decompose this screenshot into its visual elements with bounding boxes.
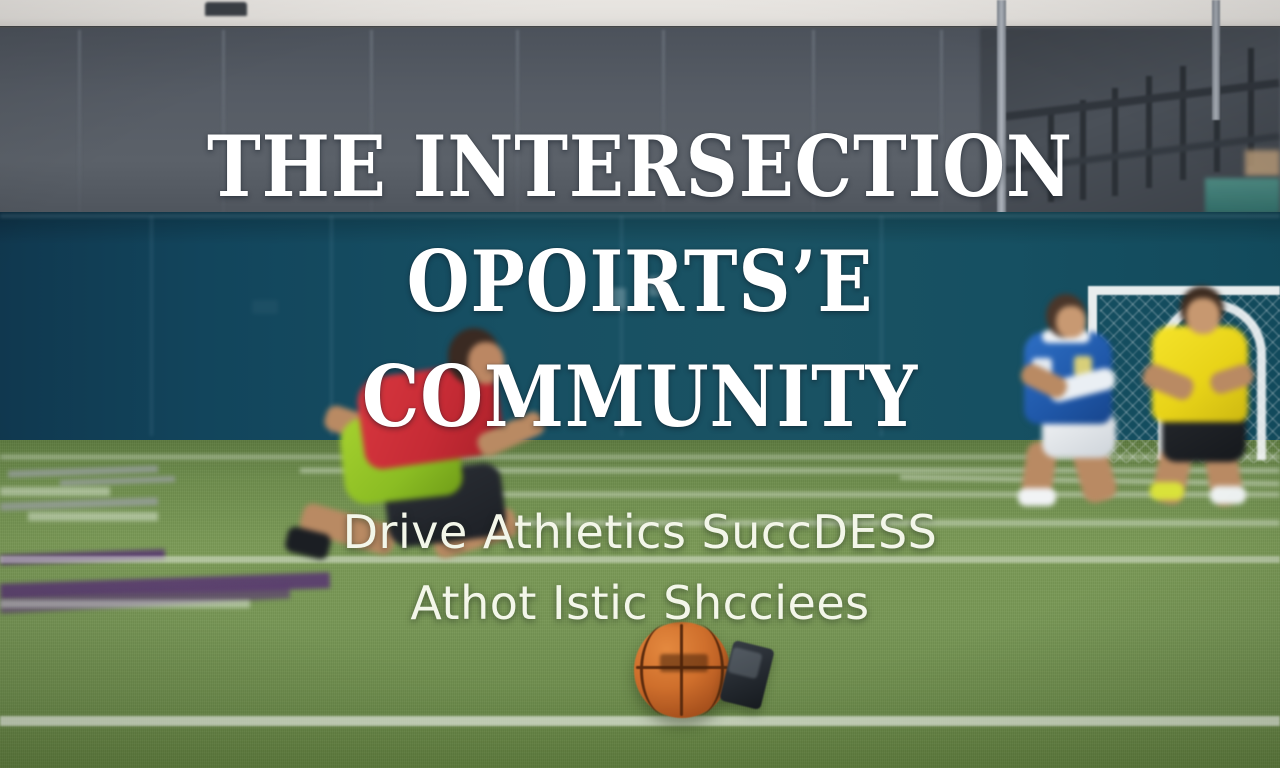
wall-sign-patch — [604, 288, 626, 310]
railing-post — [1180, 66, 1186, 180]
wall-seam — [78, 30, 81, 216]
field-marking — [0, 487, 110, 496]
roof-camera-object — [205, 2, 247, 16]
player-shoe — [1150, 482, 1184, 500]
field-marking — [0, 600, 250, 608]
player-face — [1056, 306, 1086, 338]
railing-post — [1248, 48, 1254, 166]
yard-line — [0, 716, 1280, 726]
support-pole — [997, 0, 1006, 224]
wall-sign-patch — [648, 276, 668, 296]
stand-detail — [1245, 150, 1280, 176]
wall-seam — [812, 30, 815, 216]
wall-seam — [662, 30, 665, 216]
player-shoe — [1210, 486, 1246, 504]
basketball-logo — [660, 654, 708, 672]
support-pole — [1212, 0, 1220, 120]
player-face — [1186, 298, 1220, 334]
teal-wall-seam — [620, 216, 623, 436]
teal-wall-seam — [880, 216, 883, 436]
wall-seam — [940, 30, 943, 216]
wall-top-highlight — [0, 214, 1280, 218]
wall-seam — [222, 30, 225, 216]
railing-post — [1146, 76, 1152, 188]
player-shoe — [1018, 488, 1056, 506]
player-yellow — [1136, 286, 1272, 490]
teal-wall-seam — [150, 216, 153, 436]
wall-seam — [370, 30, 373, 216]
stand-detail — [1205, 178, 1280, 214]
railing-post — [1048, 110, 1054, 202]
player-blue — [1016, 292, 1146, 488]
player-center — [300, 318, 570, 548]
field-marking — [28, 512, 158, 521]
banner-image: THE INTERSECTION OPOIRTS’E COMMUNITY Dri… — [0, 0, 1280, 768]
yard-line — [0, 556, 1280, 563]
railing-post — [1080, 100, 1086, 200]
wall-seam — [516, 30, 519, 216]
wall-sign-patch — [252, 300, 278, 314]
player-face — [468, 342, 504, 384]
